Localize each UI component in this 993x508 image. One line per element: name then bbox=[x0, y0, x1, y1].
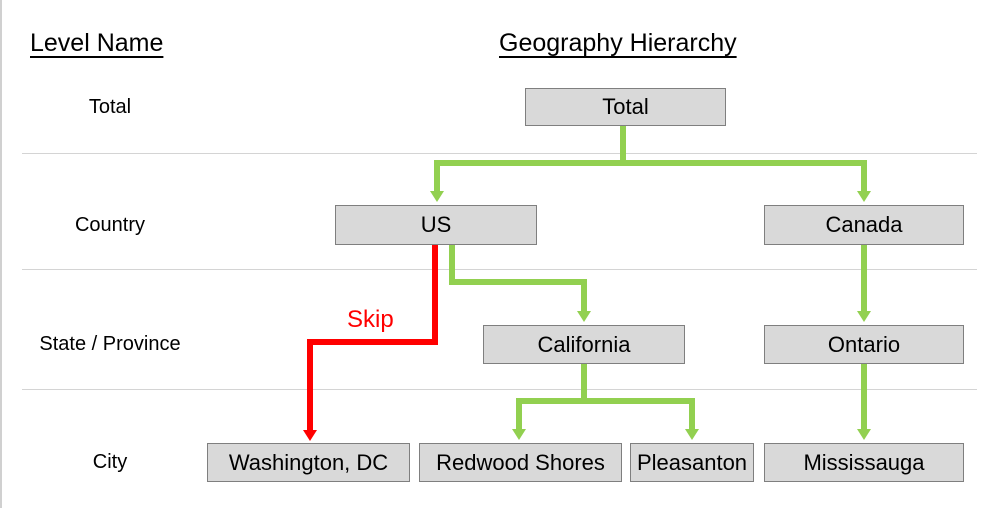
arrowhead-total-to-us bbox=[430, 191, 444, 202]
connector-us-to-california-h bbox=[449, 279, 587, 285]
arrowhead-us-to-california bbox=[577, 311, 591, 322]
node-us[interactable]: US bbox=[335, 205, 537, 245]
arrowhead-california-to-pleasanton bbox=[685, 429, 699, 440]
arrowhead-ontario-to-mississauga bbox=[857, 429, 871, 440]
row-divider-country-state bbox=[22, 269, 977, 270]
connector-canada-to-ontario bbox=[861, 245, 867, 312]
level-label-state-province: State / Province bbox=[12, 333, 208, 356]
connector-california-to-pleasanton bbox=[689, 398, 695, 430]
node-mississauga[interactable]: Mississauga bbox=[764, 443, 964, 482]
connector-california-to-redwood-shores bbox=[516, 398, 522, 430]
arrowhead-california-to-redwood-shores bbox=[512, 429, 526, 440]
row-divider-state-city bbox=[22, 389, 977, 390]
row-divider-total-country bbox=[22, 153, 977, 154]
node-washington-dc[interactable]: Washington, DC bbox=[207, 443, 410, 482]
node-pleasanton[interactable]: Pleasanton bbox=[630, 443, 754, 482]
connector-ontario-to-mississauga bbox=[861, 363, 867, 430]
page-title: Geography Hierarchy bbox=[499, 29, 737, 58]
connector-country-bus bbox=[434, 160, 867, 166]
skip-edge-label: Skip bbox=[347, 306, 394, 334]
level-name-header: Level Name bbox=[30, 29, 163, 58]
connector-skip-v2 bbox=[307, 339, 313, 431]
node-california[interactable]: California bbox=[483, 325, 685, 364]
arrowhead-canada-to-ontario bbox=[857, 311, 871, 322]
node-redwood-shores[interactable]: Redwood Shores bbox=[419, 443, 622, 482]
arrowhead-skip-to-washington-dc bbox=[303, 430, 317, 441]
node-total[interactable]: Total bbox=[525, 88, 726, 126]
arrowhead-total-to-canada bbox=[857, 191, 871, 202]
level-label-country: Country bbox=[12, 214, 208, 237]
node-canada[interactable]: Canada bbox=[764, 205, 964, 245]
connector-skip-h bbox=[307, 339, 438, 345]
geography-hierarchy-diagram: Level Name Geography Hierarchy Total Cou… bbox=[0, 0, 993, 508]
connector-california-bus bbox=[516, 398, 695, 404]
connector-us-to-california-v2 bbox=[581, 279, 587, 312]
node-ontario[interactable]: Ontario bbox=[764, 325, 964, 364]
connector-total-to-us bbox=[434, 160, 440, 192]
connector-total-to-canada bbox=[861, 160, 867, 192]
connector-skip-v1 bbox=[432, 245, 438, 345]
level-label-total: Total bbox=[12, 96, 208, 119]
level-label-city: City bbox=[12, 451, 208, 474]
